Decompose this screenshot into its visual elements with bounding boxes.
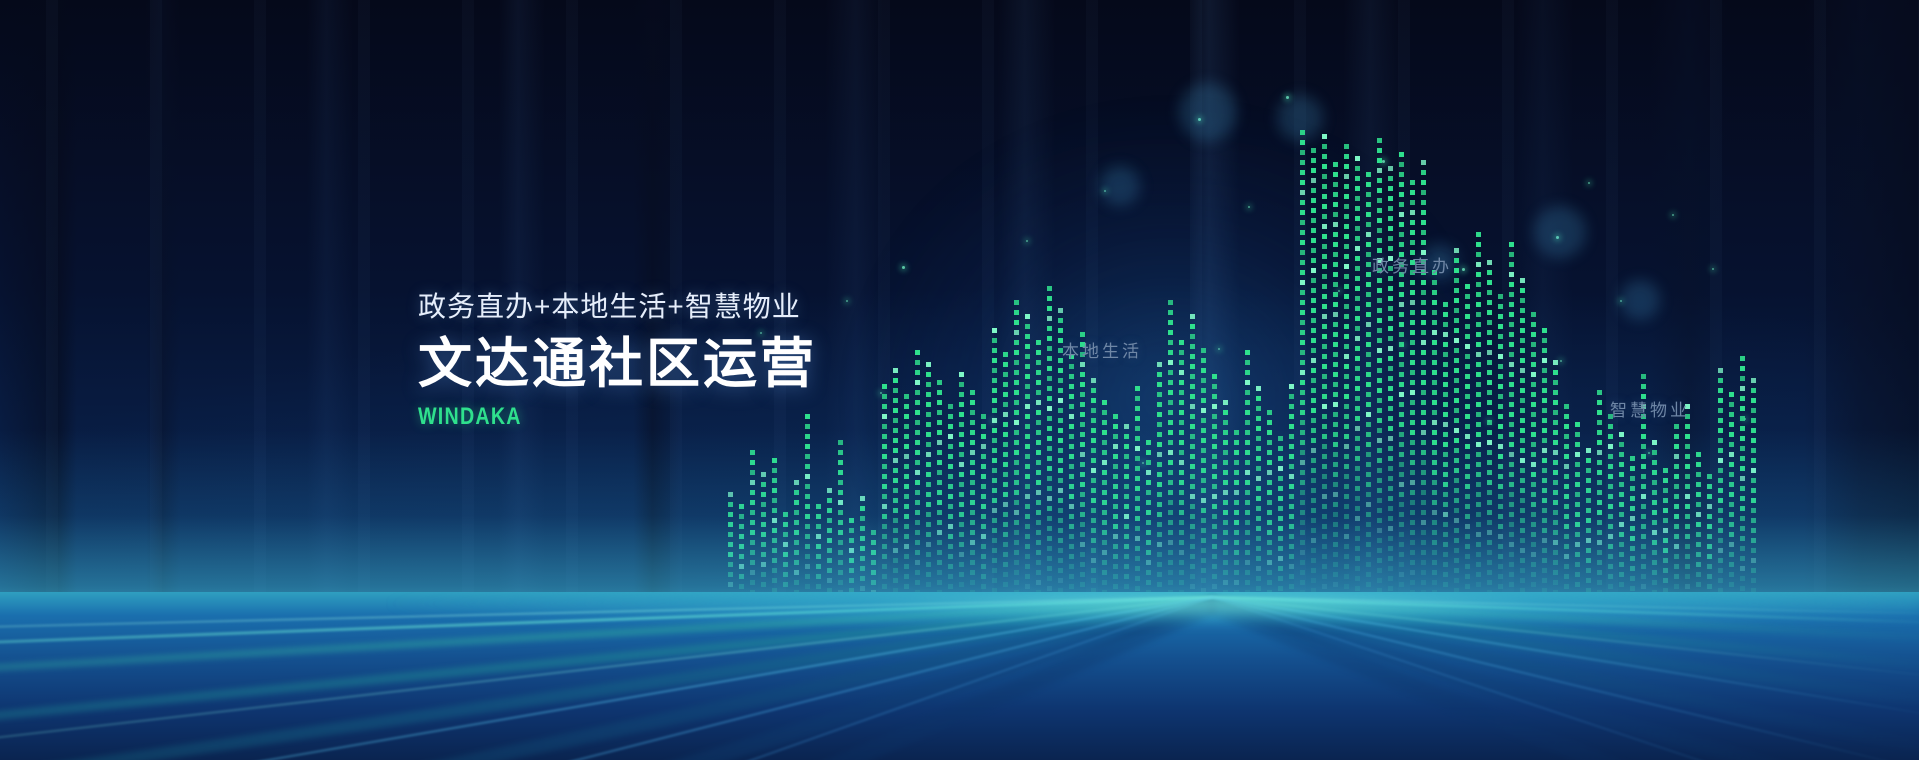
skyline-column [1366, 172, 1371, 600]
skyline-column [1432, 270, 1437, 600]
skyline-column [959, 372, 964, 600]
skyline-column [1707, 474, 1712, 600]
skyline-column [1102, 400, 1107, 600]
skyline-column [1223, 400, 1228, 600]
skyline-column [1564, 404, 1569, 600]
skyline-tag-local-life: 本地生活 [1062, 337, 1142, 362]
skyline-column [1278, 436, 1283, 600]
skyline-column [1465, 284, 1470, 600]
skyline-column [1575, 422, 1580, 600]
skyline-column [992, 328, 997, 600]
skyline-column [1718, 368, 1723, 600]
skyline-column [1509, 242, 1514, 600]
skyline-column [1091, 378, 1096, 600]
skyline-column [871, 530, 876, 600]
skyline-column [1608, 414, 1613, 600]
skyline-column [1454, 248, 1459, 600]
skyline-column [970, 390, 975, 600]
skyline-column [1036, 340, 1041, 600]
skyline-column [838, 440, 843, 600]
skyline-column [1410, 180, 1415, 600]
banner-canvas: 政务直办+本地生活+智慧物业 文达通社区运营 WINDAKA 本地生活 政务直办… [0, 0, 1919, 760]
skyline-column [750, 450, 755, 600]
skyline-column [1751, 378, 1756, 600]
skyline-column [1344, 144, 1349, 600]
skyline-column [1179, 340, 1184, 600]
skyline-column [761, 472, 766, 600]
banner-subtitle: 政务直办+本地生活+智慧物业 [418, 292, 817, 323]
skyline-column [1421, 160, 1426, 600]
skyline-column [1080, 332, 1085, 600]
skyline-column [1619, 432, 1624, 600]
skyline-column [1124, 424, 1129, 600]
skyline-column [1146, 440, 1151, 600]
skyline-column [849, 518, 854, 600]
skyline-column [1311, 148, 1316, 600]
skyline-column [1487, 260, 1492, 600]
skyline-column [1047, 286, 1052, 600]
skyline-column [860, 496, 865, 600]
skyline-column [1355, 156, 1360, 600]
skyline-column [1520, 278, 1525, 600]
skyline-column [794, 480, 799, 600]
skyline-column [1212, 374, 1217, 600]
skyline-column [1553, 360, 1558, 600]
skyline-column [1003, 352, 1008, 600]
skyline-column [1069, 354, 1074, 600]
skyline-column [739, 504, 744, 600]
skyline-column [1652, 440, 1657, 600]
skyline-column [1157, 362, 1162, 600]
skyline-column [1399, 152, 1404, 600]
skyline-tag-smart-property: 智慧物业 [1610, 396, 1690, 421]
skyline-column [1498, 294, 1503, 600]
skyline-column [1135, 386, 1140, 600]
skyline-column [1234, 430, 1239, 600]
skyline-column [1256, 386, 1261, 600]
skyline-column [1245, 350, 1250, 600]
skyline-column [1333, 162, 1338, 600]
skyline-column [1113, 414, 1118, 600]
skyline-column [1663, 468, 1668, 600]
skyline-column [1729, 392, 1734, 600]
skyline-column [1190, 314, 1195, 600]
skyline-column [937, 380, 942, 600]
horizon-glow [0, 592, 1919, 622]
skyline-column [1597, 390, 1602, 600]
skyline-column [816, 504, 821, 600]
skyline-column [1201, 348, 1206, 600]
skyline-column [926, 362, 931, 600]
skyline-column [1531, 312, 1536, 600]
skyline-column [981, 414, 986, 600]
skyline-column [1586, 448, 1591, 600]
skyline-column [1300, 130, 1305, 600]
skyline-column [882, 384, 887, 600]
skyline-column [783, 512, 788, 600]
skyline-column [1443, 302, 1448, 600]
headline-block: 政务直办+本地生活+智慧物业 文达通社区运营 WINDAKA [418, 292, 817, 431]
skyline-column [1674, 424, 1679, 600]
skyline-column [1476, 232, 1481, 600]
skyline-column [1267, 410, 1272, 600]
skyline-column [1322, 134, 1327, 600]
skyline-column [1740, 356, 1745, 600]
skyline-column [1289, 384, 1294, 600]
skyline-column [1696, 452, 1701, 600]
skyline-column [772, 458, 777, 600]
skyline-column [904, 394, 909, 600]
skyline-column [1685, 404, 1690, 600]
perspective-ground [0, 592, 1919, 760]
skyline-column [1014, 300, 1019, 600]
skyline-column [948, 404, 953, 600]
skyline-column [1542, 328, 1547, 600]
brand-wordmark: WINDAKA [418, 403, 745, 431]
skyline-column [728, 492, 733, 600]
skyline-column [1377, 138, 1382, 600]
skyline-column [1630, 456, 1635, 600]
skyline-column [805, 414, 810, 600]
skyline-column [893, 368, 898, 600]
skyline-column [915, 350, 920, 600]
skyline-column [1025, 314, 1030, 600]
banner-title: 文达通社区运营 [418, 335, 817, 393]
skyline-column [1168, 300, 1173, 600]
skyline-tag-gov-service: 政务直办 [1372, 252, 1452, 277]
skyline-column [1388, 166, 1393, 600]
skyline-column [827, 488, 832, 600]
